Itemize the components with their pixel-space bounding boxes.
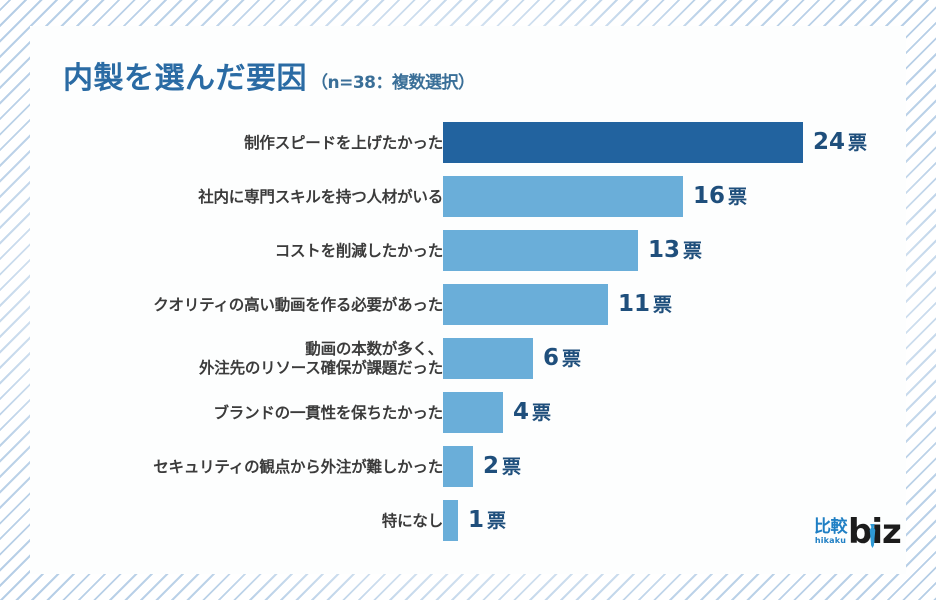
bar-value-label: 13票 — [648, 236, 702, 263]
chart-row: 制作スピードを上げたかった24票 — [30, 120, 906, 166]
bar-4 — [443, 284, 608, 325]
brand-logo-jp-romaji: hikaku — [815, 537, 846, 545]
brand-logo[interactable]: 比較 hikaku biz — [814, 518, 901, 547]
bar-5 — [443, 338, 533, 379]
bar-category-label: ブランドの一貫性を保ちたかった — [23, 404, 443, 423]
bar-6 — [443, 392, 503, 433]
bar-value-label: 16票 — [693, 182, 747, 209]
bar-category-label: 制作スピードを上げたかった — [23, 134, 443, 153]
bar-category-label: コストを削減したかった — [23, 242, 443, 261]
bar-7 — [443, 446, 473, 487]
brand-logo-en-wrap: biz — [848, 518, 901, 547]
bar-chart: 制作スピードを上げたかった24票社内に専門スキルを持つ人材がいる16票コストを削… — [30, 26, 906, 574]
necktie-icon — [869, 524, 876, 548]
bar-value-label: 1票 — [468, 506, 506, 533]
striped-background: 内製を選んだ要因 （n=38：複数選択） 制作スピードを上げたかった24票社内に… — [0, 0, 936, 600]
chart-row: 動画の本数が多く、 外注先のリソース確保が課題だった6票 — [30, 336, 906, 382]
chart-row: セキュリティの観点から外注が難しかった2票 — [30, 444, 906, 490]
bar-category-label: 動画の本数が多く、 外注先のリソース確保が課題だった — [23, 340, 443, 378]
bar-category-label: 特になし — [23, 512, 443, 531]
bar-value-label: 6票 — [543, 344, 581, 371]
bar-3 — [443, 230, 638, 271]
brand-logo-jp-main: 比較 — [814, 519, 847, 536]
chart-row: 特になし1票 — [30, 498, 906, 544]
bar-category-label: セキュリティの観点から外注が難しかった — [23, 458, 443, 477]
bar-value-label: 4票 — [513, 398, 551, 425]
chart-row: ブランドの一貫性を保ちたかった4票 — [30, 390, 906, 436]
bar-category-label: 社内に専門スキルを持つ人材がいる — [23, 188, 443, 207]
bar-value-label: 11票 — [618, 290, 672, 317]
chart-row: クオリティの高い動画を作る必要があった11票 — [30, 282, 906, 328]
chart-card: 内製を選んだ要因 （n=38：複数選択） 制作スピードを上げたかった24票社内に… — [30, 26, 906, 574]
bar-1 — [443, 122, 803, 163]
bar-category-label: クオリティの高い動画を作る必要があった — [23, 296, 443, 315]
bar-value-label: 24票 — [813, 128, 867, 155]
chart-row: コストを削減したかった13票 — [30, 228, 906, 274]
bar-2 — [443, 176, 683, 217]
bar-value-label: 2票 — [483, 452, 521, 479]
chart-row: 社内に専門スキルを持つ人材がいる16票 — [30, 174, 906, 220]
bar-8 — [443, 500, 458, 541]
brand-logo-jp: 比較 hikaku — [814, 519, 847, 547]
